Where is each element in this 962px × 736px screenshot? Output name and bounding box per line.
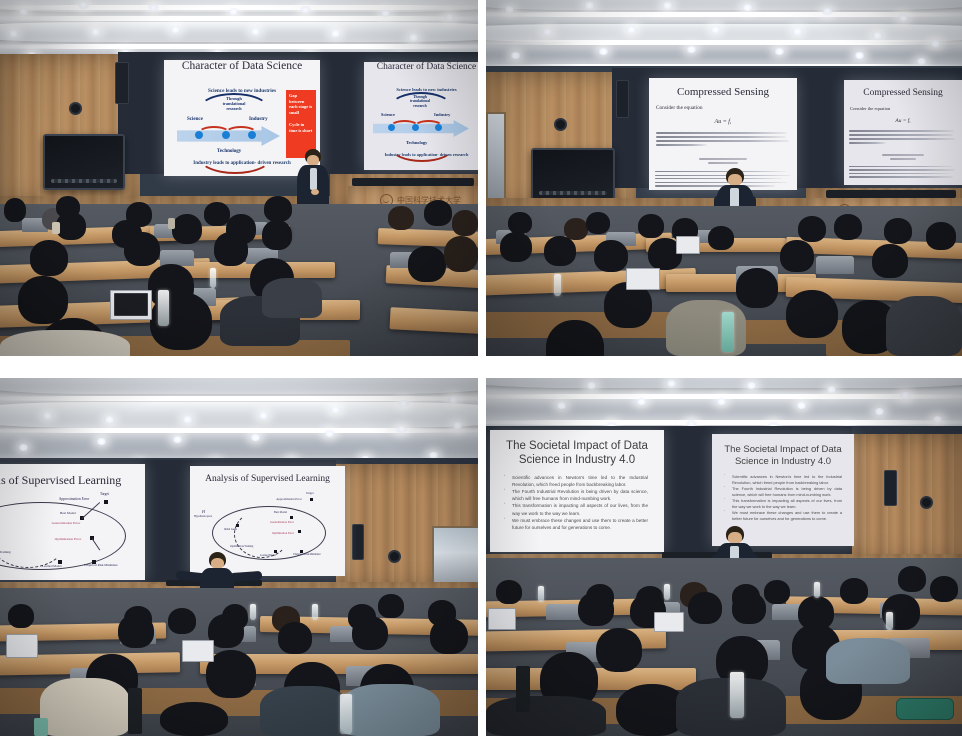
label-approximation-error: Approximation Error bbox=[56, 498, 92, 502]
slide-equation-1-duplicate: Au = f, bbox=[844, 118, 962, 124]
audience-head bbox=[452, 210, 478, 236]
slide-bottom-caption: Industry leads to application- driven re… bbox=[164, 161, 320, 166]
label-optimization-training-duplicate: Optimization/Training bbox=[230, 545, 253, 548]
audience-head bbox=[872, 244, 908, 278]
audience-head bbox=[214, 232, 248, 266]
audience-head bbox=[172, 214, 202, 244]
audience-head bbox=[638, 214, 664, 238]
audience-head bbox=[798, 216, 826, 242]
label-hypothesis-space-duplicate: H bbox=[202, 509, 205, 514]
bullet-item: The Fourth Industrial Revolution is bein… bbox=[732, 486, 842, 498]
slide-title: Character of Data Science bbox=[164, 60, 320, 72]
slide-line-1-duplicate: Consider the equation bbox=[850, 106, 890, 111]
audience-head bbox=[430, 618, 468, 654]
projection-screen-right: Compressed Sensing Consider the equation… bbox=[844, 80, 962, 185]
audience-laptop bbox=[182, 640, 214, 662]
audience-head bbox=[578, 592, 614, 626]
label-optimization-error: Optimization Error bbox=[50, 538, 86, 542]
arc-label-upper-duplicate: Through translational research bbox=[404, 95, 436, 108]
photo-panel-top-right: Compressed Sensing Consider the equation… bbox=[486, 0, 962, 356]
wall-speaker bbox=[115, 62, 129, 104]
audience-head bbox=[18, 276, 68, 324]
audience-head bbox=[444, 236, 478, 272]
audience-head bbox=[732, 592, 766, 624]
label-optimization-training: Optimization/Training bbox=[0, 550, 11, 554]
wall-speaker bbox=[616, 80, 629, 118]
label-empirical-risk-minimizer: Empirical Risk Minimizer bbox=[84, 564, 118, 568]
audience-head bbox=[30, 240, 68, 276]
slide-equation-1: Au = f, bbox=[649, 119, 797, 125]
audience-head bbox=[408, 246, 446, 282]
label-best-model-duplicate: Best Model bbox=[274, 511, 287, 514]
label-target: Target bbox=[100, 492, 109, 496]
audience-head bbox=[930, 576, 958, 602]
audience-laptop bbox=[654, 612, 684, 632]
slide-title: Analysis of Supervised Learning bbox=[0, 473, 145, 488]
audience-head bbox=[840, 578, 868, 604]
audience-head bbox=[378, 594, 404, 618]
photo-panel-bottom-right: The Societal Impact of Data Science in I… bbox=[486, 378, 962, 736]
photo-panel-bottom-left: Analysis of Supervised Learning Target A… bbox=[0, 378, 478, 736]
node-label-science-duplicate: Science bbox=[381, 112, 395, 117]
slide-title: Compressed Sensing bbox=[649, 86, 797, 98]
doorway bbox=[486, 112, 506, 202]
projection-screen-right: Character of Data Science Science leads … bbox=[364, 62, 478, 170]
bullet-item: Scientific advances in Newton's time led… bbox=[512, 474, 648, 488]
audience-head bbox=[736, 268, 778, 308]
slide-line-1: Consider the equation bbox=[656, 105, 703, 111]
ceiling-camera bbox=[556, 120, 565, 129]
wall-speaker bbox=[352, 524, 364, 560]
photo-panel-top-left: Character of Data Science Science leads … bbox=[0, 0, 478, 356]
slide-paragraph bbox=[656, 132, 790, 148]
audience-head bbox=[764, 580, 790, 604]
label-generalization-error-duplicate: Generalization Error bbox=[266, 521, 298, 524]
slide-bullet-list: Scientific advances in Newton's time led… bbox=[512, 474, 648, 531]
node-label-industry: Industry bbox=[249, 117, 268, 122]
audience-tablet bbox=[488, 608, 516, 630]
label-approximation-error-duplicate: Approximation Error bbox=[274, 498, 304, 501]
projection-screen-left: The Societal Impact of Data Science in I… bbox=[490, 430, 664, 552]
bullet-item: The Fourth Industrial Revolution is bein… bbox=[512, 488, 648, 502]
audience-head bbox=[708, 226, 734, 250]
audience-head bbox=[56, 212, 86, 240]
audience-head bbox=[926, 222, 956, 250]
lectern-monitor bbox=[826, 190, 956, 198]
audience-head bbox=[586, 212, 610, 234]
display-monitor bbox=[43, 134, 125, 190]
arc-label-lower-duplicate: Technology bbox=[406, 140, 427, 145]
audience-laptop-screen bbox=[114, 293, 148, 316]
lectern-monitor bbox=[352, 178, 474, 186]
audience-head bbox=[424, 200, 452, 226]
audience-head bbox=[352, 616, 388, 650]
label-optimization-error-duplicate: Optimization Error bbox=[268, 532, 298, 535]
slide-title-duplicate: Analysis of Supervised Learning bbox=[190, 474, 345, 484]
wall-speaker bbox=[884, 470, 897, 506]
label-best-model: Best Model bbox=[60, 511, 76, 515]
bullet-item: This transformation is impacting all asp… bbox=[732, 498, 842, 510]
audience-head bbox=[508, 212, 532, 234]
slide-callout-box: Gap between each stage is small Cycle in… bbox=[286, 90, 316, 158]
audience-head bbox=[118, 614, 154, 648]
node-label-science: Science bbox=[187, 117, 203, 122]
ceiling-camera bbox=[922, 498, 931, 507]
audience-head bbox=[168, 608, 196, 634]
projection-screen-left: Compressed Sensing Consider the equation… bbox=[649, 78, 797, 190]
audience-head bbox=[596, 628, 642, 672]
label-empirical-risk-minimizer-duplicate: Empirical Risk Minimizer bbox=[292, 554, 322, 557]
bullet-item: We must embrace these changes and use th… bbox=[512, 517, 648, 531]
projection-screen-left: Character of Data Science Science leads … bbox=[164, 60, 320, 176]
audience-head bbox=[688, 592, 722, 624]
audience-head bbox=[278, 622, 312, 654]
display-monitor bbox=[531, 148, 615, 202]
bullet-item: This transformation is impacting all asp… bbox=[512, 502, 648, 516]
audience-head bbox=[500, 232, 532, 262]
ceiling-camera bbox=[390, 552, 399, 561]
slide-bullet-list-duplicate: Scientific advances in Newton's time led… bbox=[732, 474, 842, 522]
arc-label-upper: Through translational research bbox=[216, 97, 252, 111]
audience-head bbox=[780, 240, 814, 272]
audience-head bbox=[594, 240, 628, 272]
slide-bottom-caption-duplicate: Industry leads to application- driven re… bbox=[364, 152, 478, 157]
audience-head bbox=[388, 206, 414, 230]
label-hypothesis-space-sub: Hypothesis space bbox=[194, 515, 212, 518]
label-learned-model: Learned Model bbox=[42, 564, 62, 568]
audience-head bbox=[898, 566, 926, 592]
audience-laptop bbox=[626, 268, 660, 290]
audience-head bbox=[262, 220, 292, 250]
slide-title-line-1-duplicate: The Societal Impact of Data bbox=[712, 444, 854, 457]
audience-pencil-case bbox=[896, 698, 954, 720]
audience-head bbox=[786, 290, 838, 338]
label-generalization-error: Generalization Error bbox=[46, 522, 86, 526]
projection-screen-left: Analysis of Supervised Learning Target A… bbox=[0, 464, 145, 580]
slide-title-duplicate: Compressed Sensing bbox=[844, 88, 962, 98]
callout-line-2: Cycle in time is short bbox=[289, 122, 313, 133]
slide-title-line-2-duplicate: Science in Industry 4.0 bbox=[712, 456, 854, 469]
audience-head bbox=[264, 196, 292, 222]
photo-collage: Character of Data Science Science leads … bbox=[0, 0, 962, 736]
ceiling-camera bbox=[71, 104, 80, 113]
label-learned-model-duplicate: Learned Model bbox=[260, 554, 276, 557]
audience-head bbox=[4, 198, 26, 222]
audience-head bbox=[544, 236, 576, 266]
audience-tablet bbox=[6, 634, 38, 658]
slide-title-line-2: Science in Industry 4.0 bbox=[490, 453, 664, 469]
bullet-item: We must embrace these changes and use th… bbox=[732, 510, 842, 522]
audience-head bbox=[834, 214, 862, 240]
label-initial-guess-duplicate: Initial Guess bbox=[224, 528, 237, 531]
callout-line-1: Gap between each stage is small bbox=[289, 93, 313, 115]
audience-tablet bbox=[676, 236, 700, 254]
arc-label-lower: Technology bbox=[217, 149, 241, 154]
node-label-industry-duplicate: Industry bbox=[434, 112, 450, 117]
slide-references-duplicate bbox=[849, 166, 958, 180]
audience-head bbox=[884, 218, 912, 244]
slide-equation-2 bbox=[649, 158, 797, 164]
audience-head bbox=[496, 580, 522, 604]
label-target-duplicate: Target bbox=[306, 491, 314, 495]
slide-title-duplicate: Character of Data Science bbox=[364, 62, 478, 72]
audience-head bbox=[8, 604, 34, 628]
bullet-item: Scientific advances in Newton's time led… bbox=[732, 474, 842, 486]
audience-head bbox=[124, 232, 160, 266]
audience-head bbox=[160, 702, 228, 736]
